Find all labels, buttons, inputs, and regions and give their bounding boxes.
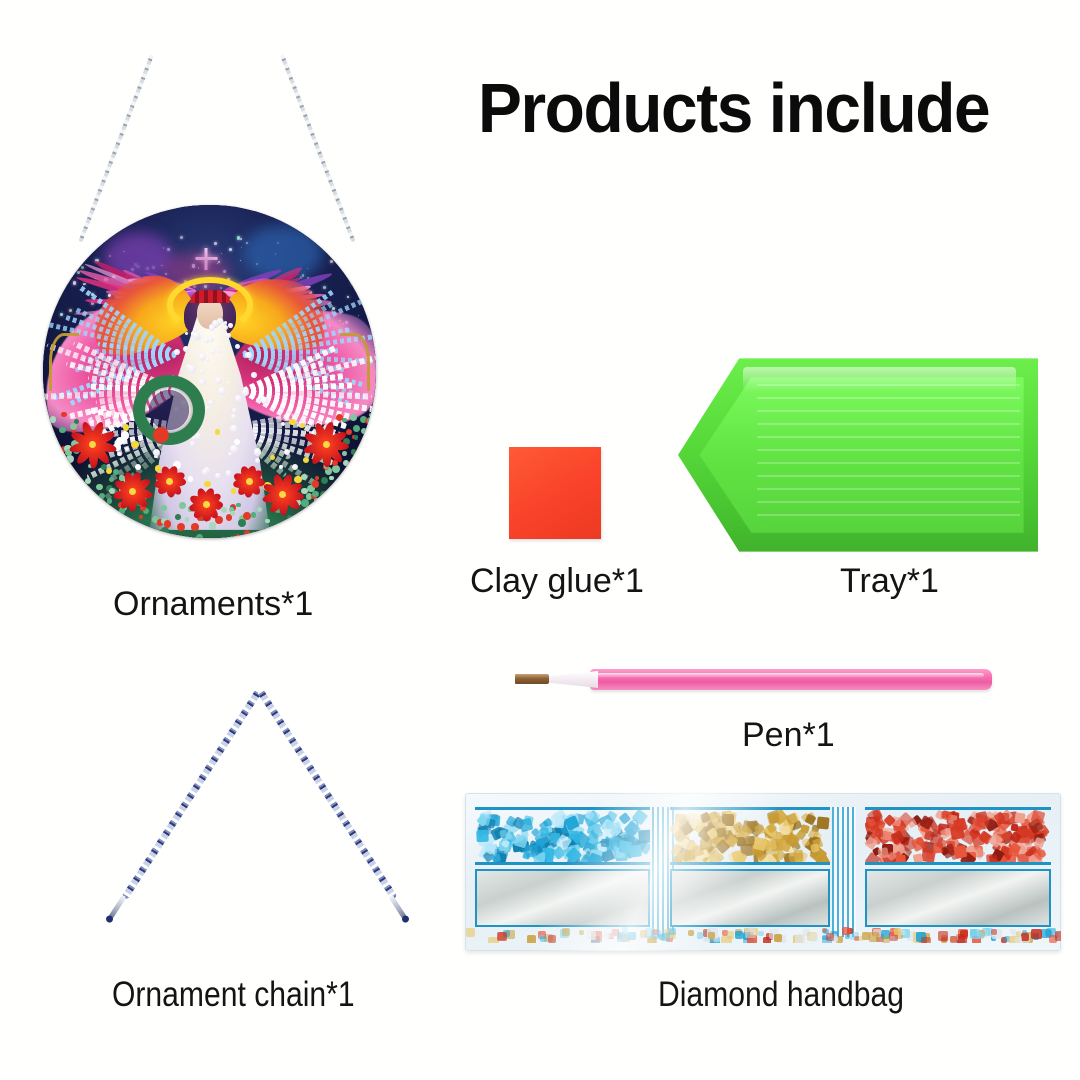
diamond-tray-icon: [678, 350, 1038, 560]
pen-cone: [542, 671, 598, 688]
bag-compartment-blue-rhinestones: [475, 807, 650, 937]
label-diamond-handbag: Diamond handbag: [658, 975, 904, 1015]
label-clay-glue: Clay glue*1: [470, 562, 644, 601]
metal-link-chain-icon: [100, 690, 412, 940]
rhinestone-zip-bag-icon: [465, 793, 1061, 951]
bag-compartment-gold-rhinestones: [670, 807, 830, 937]
bag-bottom-gems: [465, 927, 1061, 943]
label-ornaments: Ornaments*1: [113, 585, 313, 624]
clay-glue-square-icon: [509, 447, 601, 539]
ornament-illustration: [30, 55, 400, 570]
foil-label-strip: [670, 869, 830, 927]
chain-pin-right: [388, 895, 406, 920]
tray-highlight: [743, 367, 1017, 392]
gem-window: [670, 807, 830, 865]
page-title: Products include: [478, 68, 989, 148]
gold-flourish-right: [340, 333, 370, 391]
pen-barrel: [590, 669, 992, 690]
tray-grooves: [757, 384, 1020, 527]
gem-window: [475, 807, 650, 865]
label-tray: Tray*1: [840, 562, 939, 601]
foil-label-strip: [865, 869, 1051, 927]
christmas-wreath-icon: [133, 375, 205, 445]
label-ornament-chain: Ornament chain*1: [112, 975, 355, 1015]
bag-seal-strip: [832, 807, 856, 937]
foil-label-strip: [475, 869, 650, 927]
gem-window: [865, 807, 1051, 865]
label-pen: Pen*1: [742, 716, 835, 755]
bag-compartment-red-rhinestones: [865, 807, 1051, 937]
gold-flourish-left: [49, 333, 79, 391]
drill-pen-icon: [512, 663, 992, 697]
product-infographic: Products include: [0, 0, 1080, 1080]
chain-pin-left: [108, 895, 126, 920]
angel-suncatcher-ornament-icon: [43, 205, 376, 538]
flower-crown: [190, 290, 230, 303]
chain-leg-right: [257, 688, 398, 900]
pen-tip: [515, 674, 549, 684]
chain-leg-left: [121, 688, 262, 900]
